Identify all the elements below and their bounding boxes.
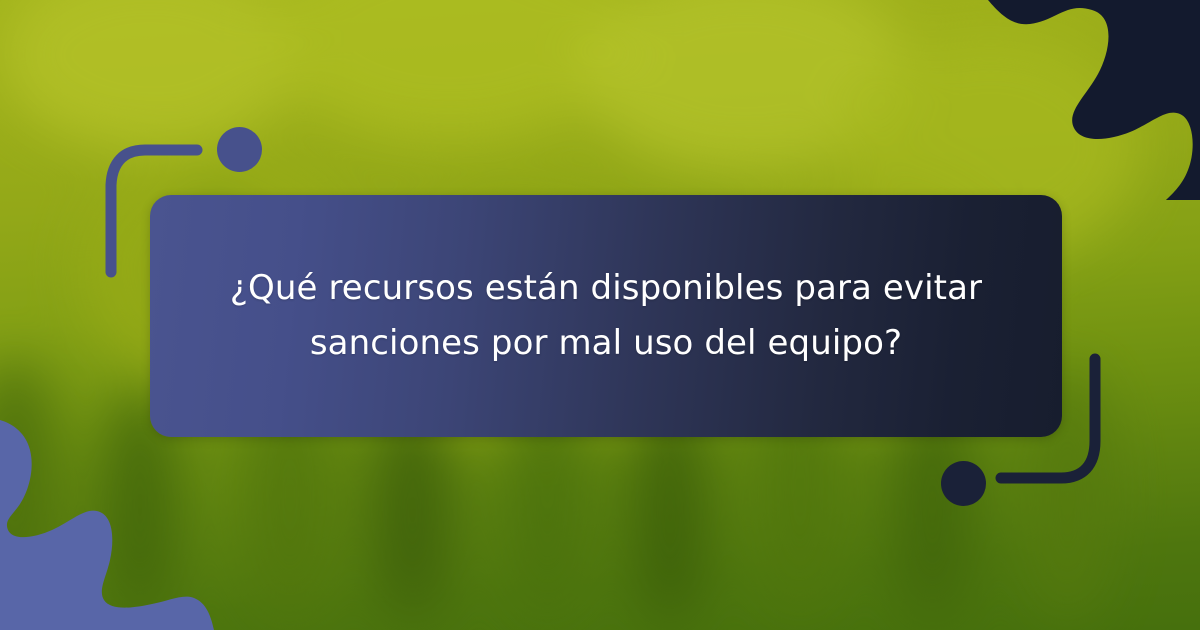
social-card-image: ¿Qué recursos están disponibles para evi… <box>0 0 1200 630</box>
question-text: ¿Qué recursos están disponibles para evi… <box>216 261 996 371</box>
top-left-accent-dot-icon <box>217 127 262 172</box>
bottom-right-accent-dot-icon <box>941 461 986 506</box>
question-card: ¿Qué recursos están disponibles para evi… <box>150 195 1062 437</box>
